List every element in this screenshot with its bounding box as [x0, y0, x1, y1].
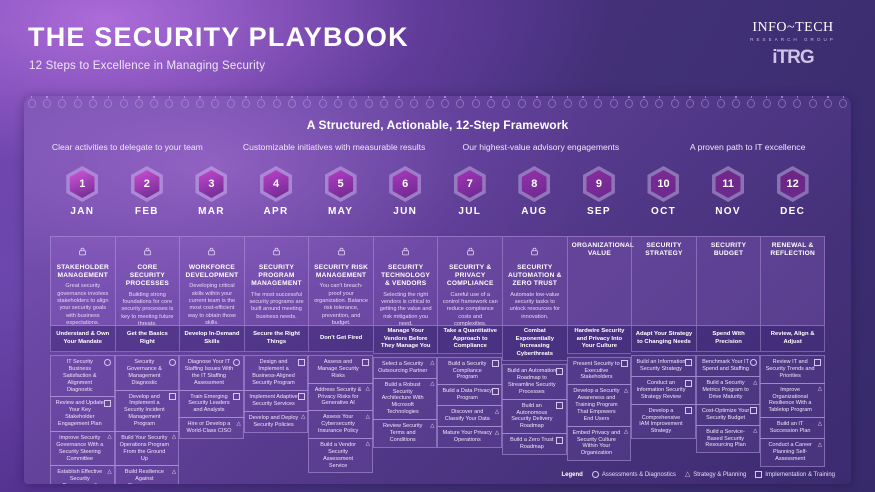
month-marker-aug[interactable]: 8AUG — [502, 166, 567, 217]
strategy-marker-icon: △ — [172, 434, 176, 441]
step-subtitle: Don't Get Fired — [320, 335, 362, 343]
tagline-3: Our highest-value advisory engagements — [438, 142, 645, 152]
step-subtitle-bar: Develop In-Demand Skills — [179, 326, 244, 352]
hexagon-badge: 2 — [131, 166, 163, 202]
step-number: 9 — [596, 178, 602, 190]
step-subtitle: Understand & Own Your Mandate — [54, 331, 112, 346]
list-item-label: Hire or Develop a World-Class CISO — [184, 421, 234, 435]
step-header-9[interactable]: ORGANIZATIONAL VALUE — [567, 236, 632, 326]
list-item-label: Build an Information Security Strategy — [636, 359, 686, 373]
step-description: Automate low-value security tasks to unl… — [507, 292, 563, 321]
lock-icon — [55, 243, 111, 261]
implementation-marker-icon — [362, 359, 369, 366]
step-column-7: SECURITY & PRIVACY COMPLIANCECareful use… — [437, 236, 502, 484]
list-item-label: Assess Your Cybersecurity Insurance Poli… — [313, 414, 363, 435]
strategy-marker-icon: △ — [172, 469, 176, 476]
step-column-10: SECURITY STRATEGYAdapt Your Strategy to … — [631, 236, 696, 484]
list-item-label: Implement Adaptive Security Services — [249, 394, 299, 408]
list-item[interactable]: △Build Resilience Against Ransomware Att… — [115, 465, 180, 484]
list-item[interactable]: Build an Information Security Strategy — [631, 355, 696, 377]
hexagon-badge: 9 — [583, 166, 615, 202]
step-item-list: Benchmark Your IT Spend and Staffing△Bui… — [696, 352, 761, 452]
step-number: 4 — [273, 178, 279, 190]
step-header-10[interactable]: SECURITY STRATEGY — [631, 236, 696, 326]
assessment-marker-icon — [750, 359, 757, 366]
step-column-5: SECURITY RISK MANAGEMENTYou can't breach… — [308, 236, 373, 484]
implementation-marker-icon — [556, 437, 563, 444]
implementation-marker-icon — [556, 402, 563, 409]
legend-item-label: Assessments & Diagnostics — [602, 472, 676, 478]
implementation-marker-icon — [104, 400, 111, 407]
list-item-label: Review IT and Security Trends and Priori… — [765, 359, 815, 380]
strategy-marker-icon: △ — [495, 409, 499, 416]
month-marker-mar[interactable]: 3MAR — [179, 166, 244, 217]
lock-icon — [313, 243, 369, 261]
list-item[interactable]: Cost-Optimize Your Security Budget — [696, 404, 761, 426]
hexagon-badge: 8 — [518, 166, 550, 202]
list-item-label: Conduct an Information Security Strategy… — [636, 380, 686, 401]
list-item-label: Conduct a Career Planning Self-Assessmen… — [765, 442, 815, 463]
hexagon-badge: 1 — [66, 166, 98, 202]
step-subtitle-bar: Manage Your Vendors Before They Manage Y… — [373, 326, 438, 354]
list-item[interactable]: Present Security to Executive Stakeholde… — [567, 357, 632, 386]
step-title: SECURITY BUDGET — [701, 242, 757, 258]
month-label: JAN — [50, 206, 115, 217]
list-item-label: Review Security Terms and Conditions — [378, 423, 428, 444]
legend-item-label: Implementation & Training — [765, 472, 835, 478]
list-item[interactable]: Build a Data Privacy Program — [437, 384, 502, 406]
list-item-label: Develop and Deploy Security Policies — [249, 415, 299, 429]
implementation-marker-icon — [298, 393, 305, 400]
strategy-marker-icon: △ — [818, 442, 822, 449]
logo-secondary-text: RESEARCH GROUP — [733, 37, 853, 42]
month-marker-may[interactable]: 5MAY — [308, 166, 373, 217]
list-item[interactable]: △Address Security & Privacy Risks for Ge… — [308, 383, 373, 412]
step-subtitle: Manage Your Vendors Before They Manage Y… — [377, 328, 435, 351]
step-item-list: △Select a Security Outsourcing Partner△B… — [373, 354, 438, 447]
step-subtitle-bar: Spend With Precision — [696, 326, 761, 352]
step-subtitle-bar: Combat Exponentially Increasing Cyberthr… — [502, 326, 567, 361]
step-description: Building strong foundations for core sec… — [120, 292, 176, 328]
step-subtitle: Take a Quantitative Approach to Complian… — [441, 328, 499, 351]
list-item[interactable]: △Build a Service-Based Security Resourci… — [696, 425, 761, 454]
implementation-marker-icon — [814, 359, 821, 366]
month-marker-apr[interactable]: 4APR — [244, 166, 309, 217]
list-item-label: Build Your Security Operations Program F… — [120, 435, 170, 463]
strategy-marker-icon: △ — [430, 360, 434, 367]
step-column-1: STAKEHOLDER MANAGEMENTGreat security gov… — [50, 236, 115, 484]
step-header-8[interactable]: SECURITY AUTOMATION & ZERO TRUSTAutomate… — [502, 236, 567, 326]
info-tech-logo: INFO~TECH RESEARCH GROUP iTRG — [733, 20, 853, 69]
step-item-list: Diagnose Your IT Staffing Issues With th… — [179, 352, 244, 438]
legend-item-label: Strategy & Planning — [693, 472, 746, 478]
step-number: 6 — [402, 178, 408, 190]
step-number: 7 — [467, 178, 473, 190]
step-title: SECURITY STRATEGY — [636, 242, 692, 258]
strategy-marker-icon: △ — [237, 421, 241, 428]
lock-icon — [442, 243, 498, 261]
month-marker-dec[interactable]: 12DEC — [760, 166, 825, 217]
step-item-list: Design and Implement a Business-Aligned … — [244, 352, 309, 432]
strategy-marker-icon: △ — [366, 441, 370, 448]
notebook-board: A Structured, Actionable, 12-Step Framew… — [24, 96, 851, 484]
step-header-11[interactable]: SECURITY BUDGET — [696, 236, 761, 326]
strategy-marker-icon: △ — [818, 421, 822, 428]
step-subtitle-bar: Hardwire Security and Privacy Into Your … — [567, 326, 632, 354]
step-item-list: Build an Information Security StrategyCo… — [631, 352, 696, 438]
step-number: 3 — [208, 178, 214, 190]
list-item-label: Improve Organizational Resilience With a… — [765, 387, 815, 415]
month-strip: 1JAN2FEB3MAR4APR5MAY6JUN7JUL8AUG9SEP10OC… — [50, 166, 825, 217]
list-item-label: Build Resilience Against Ransomware Atta… — [120, 469, 170, 484]
spiral-binding-rings — [24, 99, 851, 108]
hexagon-badge: 10 — [647, 166, 679, 202]
month-label: AUG — [502, 206, 567, 217]
implementation-marker-icon — [755, 471, 762, 478]
list-item[interactable]: △Develop and Deploy Security Policies — [244, 411, 309, 433]
step-header-7[interactable]: SECURITY & PRIVACY COMPLIANCECareful use… — [437, 236, 502, 326]
list-item[interactable]: △Improve Organizational Resilience With … — [760, 383, 825, 419]
list-item[interactable]: Security Governance & Management Diagnos… — [115, 355, 180, 391]
list-item[interactable]: △Improve Security Governance With a Secu… — [50, 431, 115, 467]
step-description: The most successful security programs ar… — [249, 292, 305, 321]
step-column-3: WORKFORCE DEVELOPMENTDeveloping critical… — [179, 236, 244, 484]
implementation-marker-icon — [685, 407, 692, 414]
step-title: SECURITY & PRIVACY COMPLIANCE — [442, 264, 498, 289]
legend-label: Legend — [561, 472, 582, 478]
list-item-label: Build a Security Metrics Program to Driv… — [701, 380, 751, 401]
hexagon-badge: 4 — [260, 166, 292, 202]
list-item-label: Develop a Comprehensive IAM Improvement … — [636, 408, 686, 436]
step-number: 10 — [657, 178, 669, 190]
step-title: CORE SECURITY PROCESSES — [120, 264, 176, 289]
list-item[interactable]: △Hire or Develop a World-Class CISO — [179, 417, 244, 439]
list-item-label: Cost-Optimize Your Security Budget — [701, 408, 751, 422]
step-item-list: Build a Security Compliance ProgramBuild… — [437, 354, 502, 448]
step-description: Careful use of a control framework can r… — [442, 292, 498, 328]
list-item-label: IT Security Business Satisfaction & Alig… — [55, 359, 105, 393]
strategy-marker-icon: △ — [624, 388, 628, 395]
step-column-12: RENEWAL & REFLECTIONReview, Align & Adju… — [760, 236, 825, 484]
list-item-label: Embed Privacy and Security Culture Withi… — [572, 430, 622, 458]
list-item-label: Establish Effective Security Governance … — [55, 469, 105, 484]
step-title: SECURITY TECHNOLOGY & VENDORS — [378, 264, 434, 289]
list-item[interactable]: Design and Implement a Business-Aligned … — [244, 355, 309, 391]
list-item[interactable]: Build a Security Compliance Program — [437, 357, 502, 386]
twelve-step-grid: STAKEHOLDER MANAGEMENTGreat security gov… — [50, 236, 825, 484]
month-label: MAY — [308, 206, 373, 217]
list-item-label: Build an IT Succession Plan — [765, 421, 815, 435]
strategy-marker-icon: △ — [685, 472, 690, 478]
list-item-label: Build a Zero Trust Roadmap — [507, 437, 557, 451]
month-marker-jul[interactable]: 7JUL — [437, 166, 502, 217]
list-item[interactable]: △Build a Security Metrics Program to Dri… — [696, 376, 761, 405]
list-item[interactable]: △Build an IT Succession Plan — [760, 417, 825, 439]
list-item-label: Build a Security Compliance Program — [442, 361, 492, 382]
tagline-4: A proven path to IT excellence — [644, 142, 851, 152]
hexagon-badge: 5 — [325, 166, 357, 202]
list-item-label: Build a Robust Security Architecture Wit… — [378, 382, 428, 416]
step-description: You can't breach-proof your organization… — [313, 283, 369, 327]
strategy-marker-icon: △ — [430, 423, 434, 430]
month-marker-jan[interactable]: 1JAN — [50, 166, 115, 217]
implementation-marker-icon — [685, 380, 692, 387]
list-item-label: Mature Your Privacy Operations — [442, 430, 492, 444]
month-marker-feb[interactable]: 2FEB — [115, 166, 180, 217]
list-item-label: Develop a Security Awareness and Trainin… — [572, 388, 622, 422]
lock-icon — [120, 243, 176, 261]
list-item[interactable]: IT Security Business Satisfaction & Alig… — [50, 355, 115, 397]
step-item-list: Assess and Manage Security Risks△Address… — [308, 352, 373, 472]
list-item-label: Present Security to Executive Stakeholde… — [572, 361, 622, 382]
step-subtitle-bar: Secure the Right Things — [244, 326, 309, 352]
step-item-list: Present Security to Executive Stakeholde… — [567, 354, 632, 461]
month-label: JUL — [437, 206, 502, 217]
step-number: 1 — [79, 178, 85, 190]
list-item[interactable]: △Conduct a Career Planning Self-Assessme… — [760, 438, 825, 467]
step-subtitle: Review, Align & Adjust — [764, 331, 821, 346]
month-marker-nov[interactable]: 11NOV — [696, 166, 761, 217]
list-item[interactable]: Assess and Manage Security Risks — [308, 355, 373, 384]
step-title: SECURITY RISK MANAGEMENT — [313, 264, 369, 280]
step-header-6[interactable]: SECURITY TECHNOLOGY & VENDORSSelecting t… — [373, 236, 438, 326]
step-title: WORKFORCE DEVELOPMENT — [184, 264, 240, 280]
list-item-label: Benchmark Your IT Spend and Staffing — [701, 359, 751, 373]
hexagon-badge: 12 — [777, 166, 809, 202]
list-item[interactable]: Review IT and Security Trends and Priori… — [760, 355, 825, 384]
strategy-marker-icon: △ — [753, 380, 757, 387]
legend-item-circle: Assessments & Diagnostics — [592, 471, 676, 478]
list-item[interactable]: Implement Adaptive Security Services — [244, 390, 309, 412]
lock-icon — [378, 243, 434, 261]
logo-itrg-text: iTRG — [733, 47, 853, 69]
list-item-label: Diagnose Your IT Staffing Issues With th… — [184, 359, 234, 387]
list-item-label: Assess and Manage Security Risks — [313, 359, 363, 380]
step-subtitle: Adapt Your Strategy to Changing Needs — [635, 331, 693, 346]
list-item-label: Improve Security Governance With a Secur… — [55, 435, 105, 463]
list-item[interactable]: Review and Update Your Key Stakeholder E… — [50, 396, 115, 432]
legend-item-square: Implementation & Training — [755, 471, 835, 478]
assessment-marker-icon — [104, 359, 111, 366]
step-subtitle: Get the Basics Right — [119, 331, 177, 346]
step-description: Selecting the right vendors is critical … — [378, 292, 434, 328]
step-number: 8 — [531, 178, 537, 190]
implementation-marker-icon — [233, 393, 240, 400]
implementation-marker-icon — [621, 360, 628, 367]
list-item[interactable]: △Build a Vendor Security Assessment Serv… — [308, 438, 373, 474]
list-item-label: Select a Security Outsourcing Partner — [378, 361, 428, 375]
legend-item-triangle: △Strategy & Planning — [685, 471, 746, 478]
step-subtitle-bar: Don't Get Fired — [308, 326, 373, 352]
strategy-marker-icon: △ — [624, 429, 628, 436]
step-subtitle: Hardwire Security and Privacy Into Your … — [571, 328, 629, 351]
list-item-label: Address Security & Privacy Risks for Gen… — [313, 387, 363, 408]
strategy-marker-icon: △ — [107, 434, 111, 441]
tagline-1: Clear activities to delegate to your tea… — [24, 142, 231, 152]
strategy-marker-icon: △ — [753, 428, 757, 435]
month-label: OCT — [631, 206, 696, 217]
step-column-11: SECURITY BUDGETSpend With PrecisionBench… — [696, 236, 761, 484]
strategy-marker-icon: △ — [818, 386, 822, 393]
logo-primary-text: INFO~TECH — [733, 20, 853, 36]
step-column-4: SECURITY PROGRAM MANAGEMENTThe most succ… — [244, 236, 309, 484]
list-item[interactable]: Build an Autonomous Security Delivery Ro… — [502, 399, 567, 435]
list-item[interactable]: △Discover and Classify Your Data — [437, 405, 502, 427]
step-column-8: SECURITY AUTOMATION & ZERO TRUSTAutomate… — [502, 236, 567, 484]
implementation-marker-icon — [750, 407, 757, 414]
list-item[interactable]: △Build Your Security Operations Program … — [115, 431, 180, 467]
step-header-1[interactable]: STAKEHOLDER MANAGEMENTGreat security gov… — [50, 236, 115, 326]
page-subtitle: 12 Steps to Excellence in Managing Secur… — [29, 60, 265, 72]
step-header-12[interactable]: RENEWAL & REFLECTION — [760, 236, 825, 326]
step-number: 12 — [787, 178, 799, 190]
step-subtitle-bar: Adapt Your Strategy to Changing Needs — [631, 326, 696, 352]
step-subtitle: Spend With Precision — [700, 331, 758, 346]
list-item[interactable]: △Develop a Security Awareness and Traini… — [567, 384, 632, 426]
assessment-marker-icon — [233, 359, 240, 366]
step-item-list: IT Security Business Satisfaction & Alig… — [50, 352, 115, 484]
step-item-list: Review IT and Security Trends and Priori… — [760, 352, 825, 466]
lock-icon — [507, 243, 563, 261]
step-title: ORGANIZATIONAL VALUE — [572, 242, 628, 258]
step-title: STAKEHOLDER MANAGEMENT — [55, 264, 111, 280]
step-header-4[interactable]: SECURITY PROGRAM MANAGEMENTThe most succ… — [244, 236, 309, 326]
hexagon-badge: 11 — [712, 166, 744, 202]
step-subtitle-bar: Understand & Own Your Mandate — [50, 326, 115, 352]
step-title: SECURITY PROGRAM MANAGEMENT — [249, 264, 305, 289]
assessment-marker-icon — [169, 359, 176, 366]
strategy-marker-icon: △ — [366, 414, 370, 421]
list-item[interactable]: Conduct an Information Security Strategy… — [631, 376, 696, 405]
implementation-marker-icon — [169, 393, 176, 400]
list-item-label: Build a Vendor Security Assessment Servi… — [313, 442, 363, 470]
tagline-row: Clear activities to delegate to your tea… — [24, 142, 851, 152]
list-item-label: Build a Service-Based Security Resourcin… — [701, 429, 751, 450]
list-item-label: Build a Data Privacy Program — [442, 388, 492, 402]
hexagon-badge: 7 — [454, 166, 486, 202]
list-item[interactable]: △Select a Security Outsourcing Partner — [373, 357, 438, 379]
playbook-poster: THE SECURITY PLAYBOOK 12 Steps to Excell… — [0, 0, 875, 492]
step-number: 5 — [338, 178, 344, 190]
month-marker-oct[interactable]: 10OCT — [631, 166, 696, 217]
month-marker-sep[interactable]: 9SEP — [567, 166, 632, 217]
lock-icon — [184, 243, 240, 261]
list-item[interactable]: △Establish Effective Security Governance… — [50, 465, 115, 484]
month-label: MAR — [179, 206, 244, 217]
step-column-9: ORGANIZATIONAL VALUEHardwire Security an… — [567, 236, 632, 484]
strategy-marker-icon: △ — [495, 430, 499, 437]
month-label: JUN — [373, 206, 438, 217]
list-item[interactable]: Build a Zero Trust Roadmap — [502, 433, 567, 455]
month-label: SEP — [567, 206, 632, 217]
step-description: Great security governance involves stake… — [55, 283, 111, 327]
strategy-marker-icon: △ — [430, 381, 434, 388]
step-header-2[interactable]: CORE SECURITY PROCESSESBuilding strong f… — [115, 236, 180, 326]
month-label: DEC — [760, 206, 825, 217]
poster-header: THE SECURITY PLAYBOOK 12 Steps to Excell… — [0, 0, 875, 92]
step-column-2: CORE SECURITY PROCESSESBuilding strong f… — [115, 236, 180, 484]
step-item-list: Security Governance & Management Diagnos… — [115, 352, 180, 484]
step-number: 11 — [722, 178, 734, 190]
list-item-label: Review and Update Your Key Stakeholder E… — [55, 400, 105, 428]
list-item[interactable]: Benchmark Your IT Spend and Staffing — [696, 355, 761, 377]
step-subtitle-bar: Get the Basics Right — [115, 326, 180, 352]
list-item[interactable]: Develop and Implement a Security Inciden… — [115, 390, 180, 432]
list-item-label: Design and Implement a Business-Aligned … — [249, 359, 299, 387]
tagline-2: Customizable initiatives with measurable… — [231, 142, 438, 152]
lock-icon — [249, 243, 305, 261]
list-item-label: Discover and Classify Your Data — [442, 409, 492, 423]
implementation-marker-icon — [556, 368, 563, 375]
list-item-label: Develop and Implement a Security Inciden… — [120, 394, 170, 428]
list-item-label: Train Emerging Security Leaders and Anal… — [184, 394, 234, 415]
implementation-marker-icon — [298, 359, 305, 366]
list-item[interactable]: Train Emerging Security Leaders and Anal… — [179, 390, 244, 419]
list-item[interactable]: △Mature Your Privacy Operations — [437, 426, 502, 448]
list-item[interactable]: △Review Security Terms and Conditions — [373, 419, 438, 448]
step-subtitle: Secure the Right Things — [248, 331, 306, 346]
list-item[interactable]: Build an Automation Roadmap to Streamlin… — [502, 364, 567, 400]
list-item[interactable]: △Build a Robust Security Architecture Wi… — [373, 378, 438, 420]
step-subtitle-bar: Take a Quantitative Approach to Complian… — [437, 326, 502, 354]
step-title: RENEWAL & REFLECTION — [765, 242, 820, 258]
step-number: 2 — [144, 178, 150, 190]
month-label: APR — [244, 206, 309, 217]
strategy-marker-icon: △ — [366, 386, 370, 393]
implementation-marker-icon — [492, 388, 499, 395]
list-item[interactable]: Diagnose Your IT Staffing Issues With th… — [179, 355, 244, 391]
list-item-label: Security Governance & Management Diagnos… — [120, 359, 170, 387]
list-item[interactable]: △Embed Privacy and Security Culture With… — [567, 426, 632, 462]
step-subtitle: Develop In-Demand Skills — [183, 331, 241, 346]
month-marker-jun[interactable]: 6JUN — [373, 166, 438, 217]
implementation-marker-icon — [492, 360, 499, 367]
step-header-3[interactable]: WORKFORCE DEVELOPMENTDeveloping critical… — [179, 236, 244, 326]
month-label: FEB — [115, 206, 180, 217]
hexagon-badge: 3 — [195, 166, 227, 202]
list-item[interactable]: Develop a Comprehensive IAM Improvement … — [631, 404, 696, 440]
page-title: THE SECURITY PLAYBOOK — [28, 22, 409, 53]
step-subtitle-bar: Review, Align & Adjust — [760, 326, 825, 352]
implementation-marker-icon — [685, 359, 692, 366]
list-item[interactable]: △Assess Your Cybersecurity Insurance Pol… — [308, 410, 373, 439]
list-item-label: Build an Automation Roadmap to Streamlin… — [507, 368, 557, 396]
step-item-list: Build an Automation Roadmap to Streamlin… — [502, 361, 567, 454]
strategy-marker-icon: △ — [107, 469, 111, 476]
step-header-5[interactable]: SECURITY RISK MANAGEMENTYou can't breach… — [308, 236, 373, 326]
step-column-6: SECURITY TECHNOLOGY & VENDORSSelecting t… — [373, 236, 438, 484]
hexagon-badge: 6 — [389, 166, 421, 202]
month-label: NOV — [696, 206, 761, 217]
framework-heading: A Structured, Actionable, 12-Step Framew… — [24, 118, 851, 132]
list-item-label: Build an Autonomous Security Delivery Ro… — [507, 403, 557, 431]
step-title: SECURITY AUTOMATION & ZERO TRUST — [507, 264, 563, 289]
step-description: Developing critical skills within your c… — [184, 283, 240, 327]
step-subtitle: Combat Exponentially Increasing Cyberthr… — [506, 328, 564, 358]
assessment-marker-icon — [592, 471, 599, 478]
strategy-marker-icon: △ — [301, 414, 305, 421]
legend: Legend Assessments & Diagnostics△Strateg… — [561, 471, 835, 478]
legend-items: Assessments & Diagnostics△Strategy & Pla… — [592, 471, 835, 478]
